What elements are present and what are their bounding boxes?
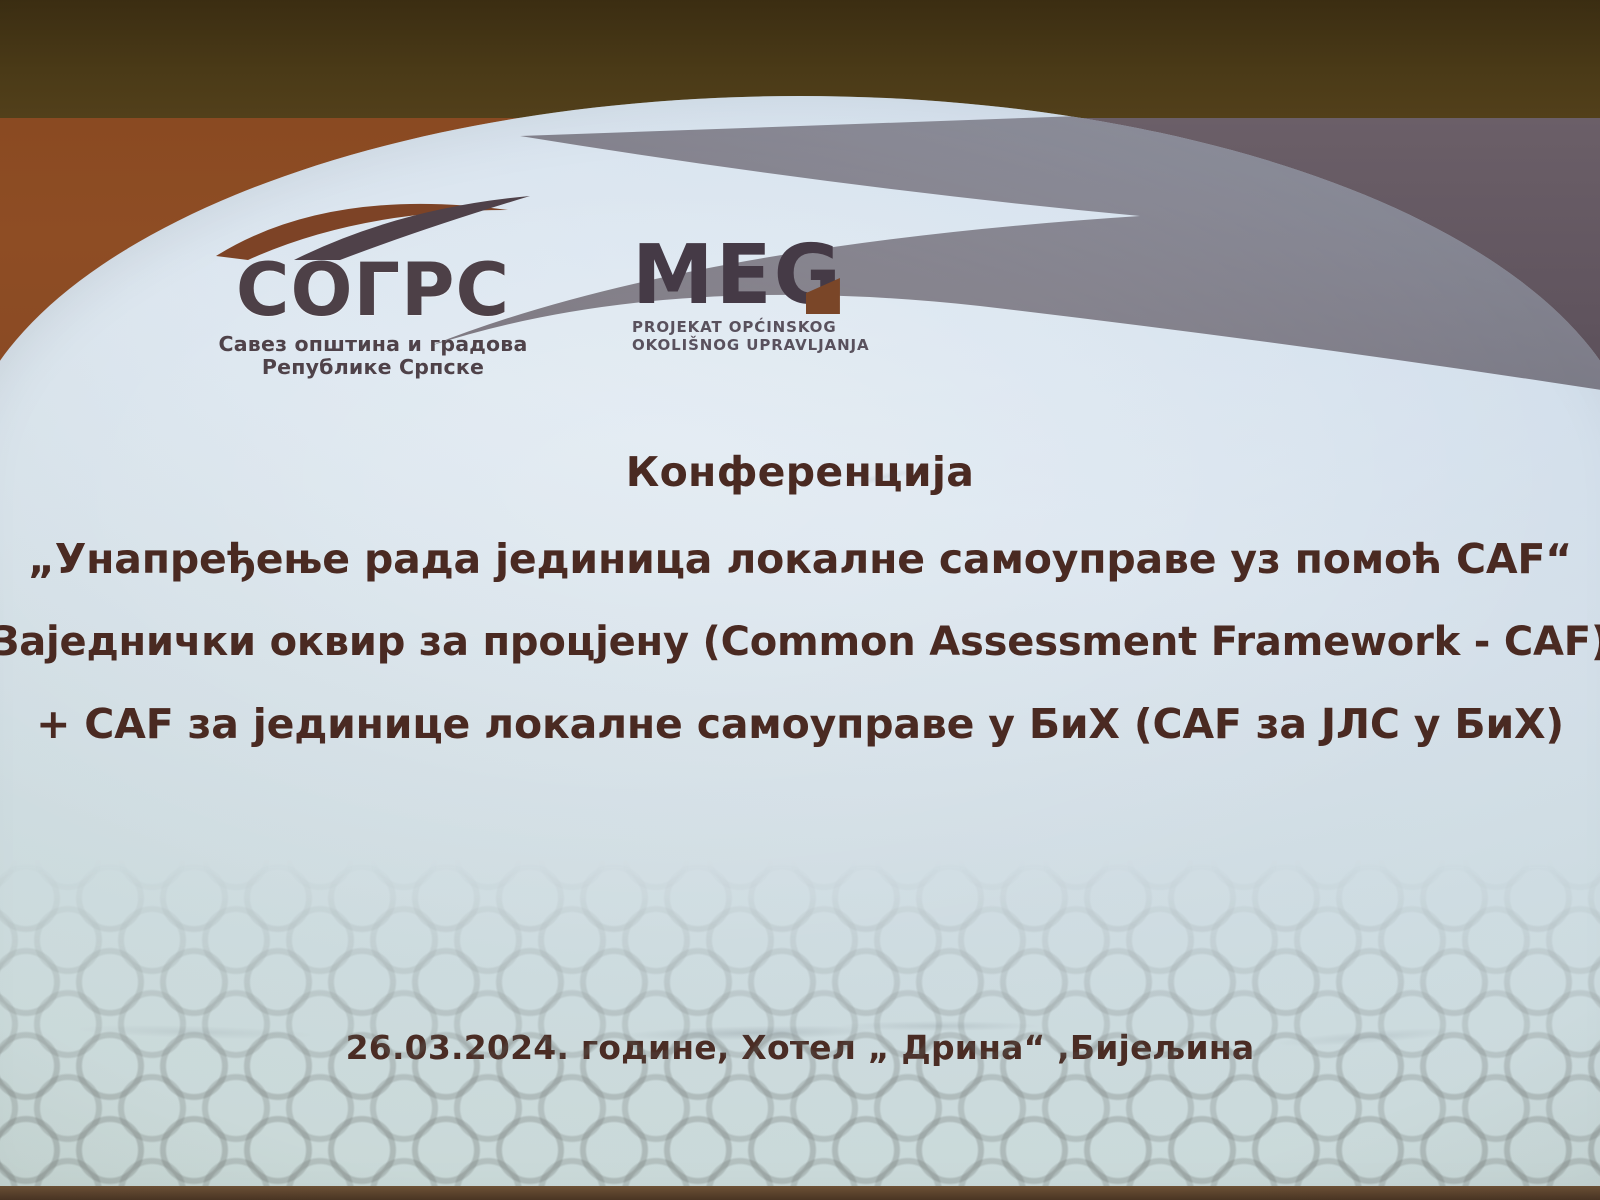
slide-title-line-1: „Унапређење рада јединица локалне самоуп…	[0, 539, 1600, 580]
meg-wordmark-wrap: MEG	[632, 238, 843, 313]
slide-title-line-2: Заједнички оквир за процјену (Common Ass…	[0, 622, 1600, 662]
meg-subtitle: PROJEKAT OPĆINSKOG OKOLIŠNOG UPRAVLJANJA	[632, 318, 882, 354]
slide-content: Конференција „Унапређење рада јединица л…	[0, 448, 1600, 745]
sogrs-subtitle-line1: Савез општина и градова	[208, 333, 538, 356]
wall-bottom-band	[0, 1186, 1600, 1200]
slide-footer-text: 26.03.2024. године, Хотел „ Дрина“ ,Бије…	[0, 1028, 1600, 1067]
sogrs-subtitle-line2: Републике Српске	[208, 356, 538, 379]
meg-logo: MEG PROJEKAT OPĆINSKOG OKOLIŠNOG UPRAVLJ…	[632, 238, 882, 354]
slide-footer: 26.03.2024. године, Хотел „ Дрина“ ,Бије…	[0, 1028, 1600, 1067]
slide-surface: СОГРС Савез општина и градова Републике …	[0, 96, 1600, 1200]
projected-slide-photo: СОГРС Савез општина и градова Републике …	[0, 0, 1600, 1200]
logo-row: СОГРС Савез општина и градова Републике …	[0, 166, 1600, 436]
meg-wordmark: MEG	[632, 228, 843, 323]
slide-title-line-3: + CAF за јединице локалне самоуправе у Б…	[0, 704, 1600, 745]
sogrs-logo: СОГРС Савез општина и градова Републике …	[208, 194, 538, 379]
sogrs-wordmark: СОГРС	[208, 254, 538, 327]
slide-heading: Конференција	[0, 448, 1600, 496]
